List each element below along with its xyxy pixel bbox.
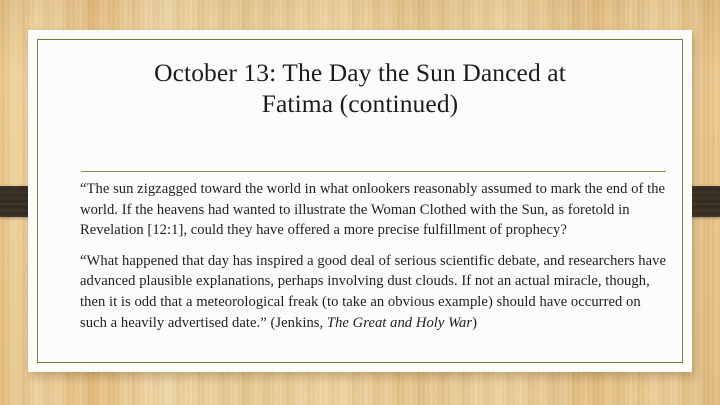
slide-stage: October 13: The Day the Sun Danced at Fa… xyxy=(0,0,720,405)
page-title: October 13: The Day the Sun Danced at Fa… xyxy=(72,57,648,119)
body-paragraph-1: “The sun zigzagged toward the world in w… xyxy=(80,179,668,241)
book-title-citation: The Great and Holy War xyxy=(327,315,472,331)
slide-content-card: October 13: The Day the Sun Danced at Fa… xyxy=(28,30,692,372)
slide-body: “The sun zigzagged toward the world in w… xyxy=(80,179,668,333)
title-divider-rule xyxy=(81,171,666,172)
body-paragraph-2: “What happened that day has inspired a g… xyxy=(80,251,668,333)
body-paragraph-2-text-after: ) xyxy=(472,315,477,331)
body-paragraph-1-text: “The sun zigzagged toward the world in w… xyxy=(80,181,665,238)
